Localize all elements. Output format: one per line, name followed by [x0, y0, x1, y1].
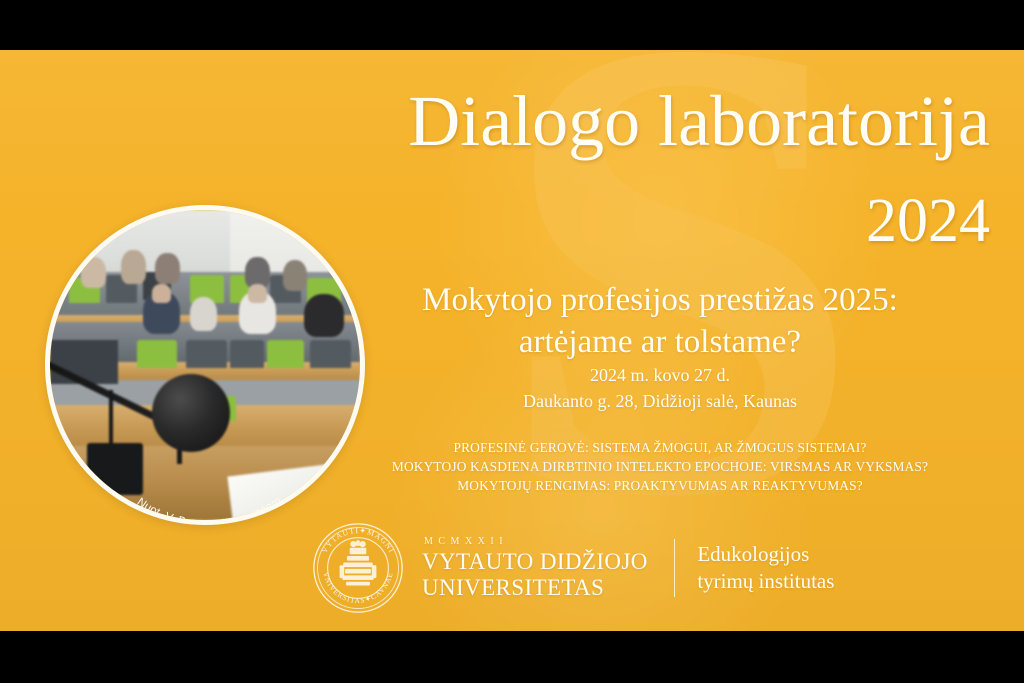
photo-seat — [137, 340, 177, 368]
event-subtitle-line-2: artėjame ar tolstame? — [375, 322, 945, 364]
vdu-name-line-2: UNIVERSITETAS — [422, 575, 648, 601]
event-subtitle-line-1: Mokytojo profesijos prestižas 2025: — [375, 280, 945, 322]
vdu-name-line-1: VYTAUTO DIDŽIOJO — [422, 549, 648, 575]
photo-microphone-head — [152, 374, 230, 452]
page-title: Dialogo laboratorija — [300, 85, 990, 158]
photo-person — [245, 257, 270, 288]
photo-microphone-base — [87, 443, 143, 496]
photo-person — [304, 294, 344, 337]
letterbox-bar-top — [0, 0, 1024, 50]
vdu-wordmark: MCMXXII VYTAUTO DIDŽIOJO UNIVERSITETAS — [422, 536, 648, 601]
institute-name-line-1: Edukologijos — [697, 541, 834, 568]
photo-person — [155, 253, 180, 284]
event-subtitle: Mokytojo profesijos prestižas 2025: artė… — [375, 280, 945, 363]
event-venue: Daukanto g. 28, Didžioji salė, Kaunas — [375, 389, 945, 415]
photo-person-head — [152, 284, 171, 303]
question-item: MOKYTOJO KASDIENA DIRBTINIO INTELEKTO EP… — [330, 457, 990, 476]
photo-seat — [186, 340, 226, 368]
photo-person — [121, 250, 146, 284]
event-details: 2024 m. kovo 27 d. Daukanto g. 28, Didži… — [375, 363, 945, 414]
photo-image — [50, 210, 360, 520]
poster-stage: S — [0, 0, 1024, 683]
footer-logo-lockup: VYTAUTI✦MAGNI VNIVERSITAS✦CAVNAE — [312, 522, 834, 614]
photo-person — [81, 257, 106, 288]
photo-person — [283, 260, 308, 291]
event-photo: Nuot. V. Butanavičiaus (2023) — [45, 205, 365, 525]
discussion-questions: PROFESINĖ GEROVĖ: SISTEMA ŽMOGUI, AR ŽMO… — [330, 438, 990, 495]
photo-seat — [310, 340, 350, 368]
event-date: 2024 m. kovo 27 d. — [375, 363, 945, 389]
photo-seat — [267, 340, 304, 368]
photo-person-head — [248, 284, 267, 303]
photo-person — [190, 297, 218, 331]
institute-name-line-2: tyrimų institutas — [697, 568, 834, 595]
institute-name: Edukologijos tyrimų institutas — [697, 541, 834, 596]
event-year: 2024 — [300, 190, 990, 252]
photo-seat — [230, 340, 264, 368]
vdu-seal-icon: VYTAUTI✦MAGNI VNIVERSITAS✦CAVNAE — [312, 522, 404, 614]
question-item: MOKYTOJŲ RENGIMAS: PROAKTYVUMAS AR REAKT… — [330, 476, 990, 495]
vdu-coat-of-arms — [340, 540, 377, 585]
question-item: PROFESINĖ GEROVĖ: SISTEMA ŽMOGUI, AR ŽMO… — [330, 438, 990, 457]
letterbox-bar-bottom — [0, 631, 1024, 683]
photo-seat — [50, 340, 118, 383]
footer-divider — [674, 539, 676, 597]
vdu-founded-year: MCMXXII — [422, 536, 648, 547]
poster-canvas: S — [0, 50, 1024, 631]
